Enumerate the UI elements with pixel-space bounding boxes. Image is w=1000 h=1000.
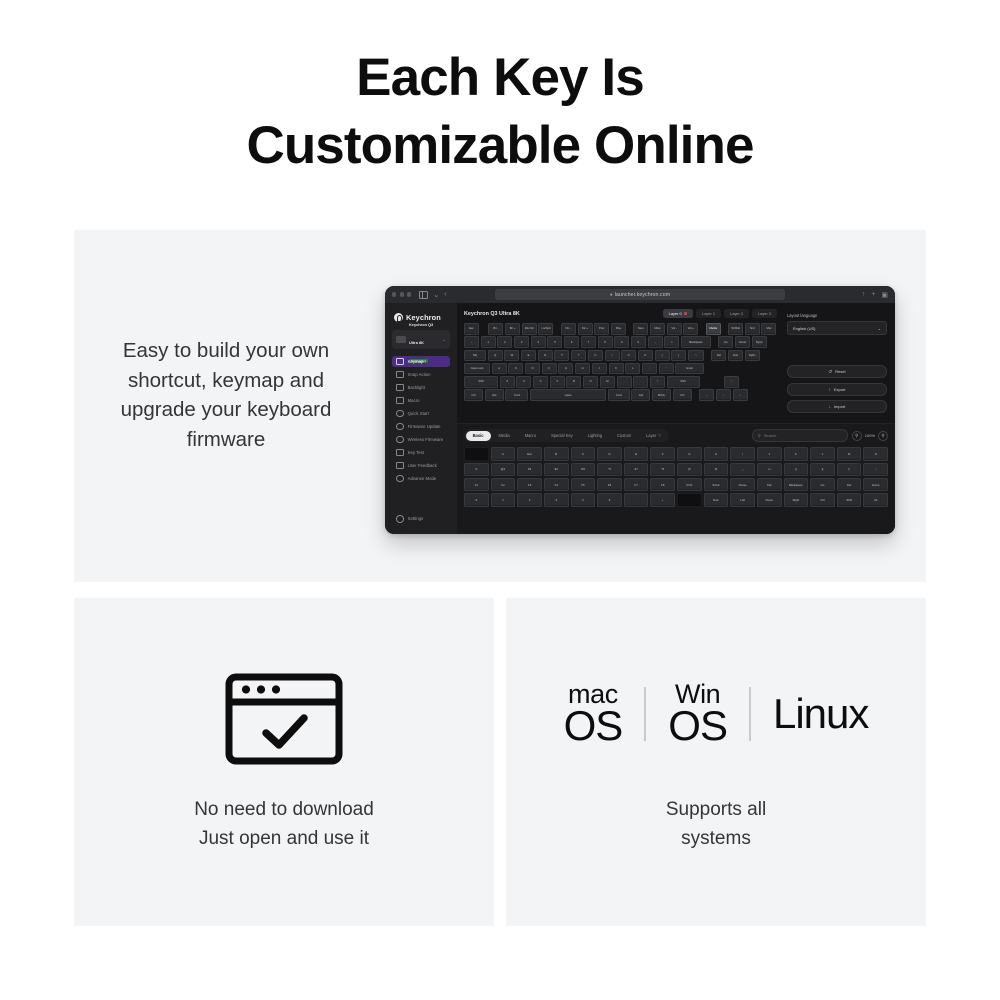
button-label: Export [834,387,846,392]
help-icon: ? [658,433,660,438]
keyboard-key[interactable]: 2 [497,336,512,348]
layer-tabs: Layer 0Layer 1Layer 2Layer 3 [663,309,777,318]
keycode-key[interactable]: K [784,447,809,460]
keyboard-key[interactable]: Y [571,350,586,362]
sidebar-item-firmware-update[interactable]: Firmware Update [392,421,450,432]
snap-icon [396,371,404,379]
chevron-down-icon[interactable]: ⌄ [443,337,446,342]
keycode-key[interactable]: Left [730,493,755,506]
keycode-key[interactable]: F1 [464,478,489,491]
sidebar-item-label: Backlight [408,385,425,390]
keyboard-key[interactable]: ~ [464,336,479,348]
keyboard-key[interactable]: Enter [675,363,704,375]
keycode-key[interactable]: H [704,447,729,460]
keyboard-key[interactable]: M [600,376,615,388]
options-panel: Layout language English (US) ⌄ ↺Reset↑Ex… [783,303,895,423]
keycode-key[interactable]: Del [837,478,862,491]
keyboard-key[interactable]: Prev [594,323,609,335]
keycode-key[interactable]: 0 [464,493,489,506]
keyboard-key[interactable]: F [542,363,557,375]
lock-icon: ● [610,292,613,297]
keycode-key[interactable]: A [491,447,516,460]
keycode-key[interactable]: }] [810,463,835,476]
sidebar-item-label: Keymap [408,359,424,364]
keyboard-key[interactable]: ] [671,350,686,362]
keyboard-key[interactable]: Dic + [578,323,593,335]
picker-tabs-group: BasicMediaMacroSpecial KeyLightingCustom… [464,429,669,442]
device-thumbnail-icon [396,336,406,343]
keyboard-key[interactable]: Bri - [488,323,503,335]
button-label: Import [834,404,845,409]
tab-layer[interactable]: Layer? [639,431,668,441]
keycode-key[interactable]: Alt [863,493,888,506]
keyboard-key[interactable]: Play [611,323,626,335]
pane-top: Keychron Q3 Ultra 8K Layer 0Layer 1Layer… [457,303,895,423]
keycode-key[interactable]: Shift [837,493,862,506]
tab-label: Media [499,433,510,438]
keycode-key[interactable]: F2 [491,478,516,491]
feature-card-main-copy: Easy to build your own shortcut, keymap … [96,336,356,454]
browser-chrome: ⌄ ‹ ● launcher.keychron.com ↑ + ▣ [385,286,895,303]
keycode-key[interactable]: ^6 [597,463,622,476]
keyboard-key[interactable]: O [621,350,636,362]
advance-icon [396,475,404,483]
keyboard-gap [722,323,726,335]
keyboard-key[interactable]: 6 [564,336,579,348]
divider [644,687,646,741]
keyboard-row: TabQWERTYUIOP[]\DelEndPgDn [464,350,777,362]
keyboard-key[interactable]: PgUp [752,336,767,348]
feedback-icon [396,462,404,470]
keycode-key[interactable]: G [677,447,702,460]
layer-tab-label: Layer 1 [702,311,715,316]
keyboard-gap [481,323,487,335]
keyboard-key[interactable]: Z [500,376,515,388]
sidebar-item-label: Wireless Firmware [408,437,444,442]
keycode-key[interactable]: Backspace [784,478,809,491]
keyboard-key[interactable]: . [633,376,648,388]
keycode-key[interactable]: !1 [464,463,489,476]
keyboard-key[interactable]: ← [699,389,714,401]
keycode-key[interactable]: + [650,493,675,506]
sidebar-item-quick-start[interactable]: Quick Start [392,408,450,419]
keycode-key[interactable]: Ctrl [810,493,835,506]
sidebar-item-macro[interactable]: Macro [392,395,450,406]
export-button[interactable]: ↑Export [787,383,887,396]
feature-card-bottom-left-caption: No need to downloadJust open and use it [74,796,494,853]
sidebar-item-label: Key Test [408,450,424,455]
page-title-line1: Each Key Is [356,48,644,107]
keyboard-key[interactable]: \ [688,350,704,362]
search-placeholder: Search [764,433,777,438]
test-icon [396,449,404,457]
wifi-icon [396,436,404,444]
keyboard-key[interactable]: Del [711,350,726,362]
keyboard-key[interactable]: P [638,350,653,362]
keycode-key[interactable]: 4 [571,493,596,506]
tab-label: Layer [646,433,656,438]
reset-icon: ↺ [828,369,832,375]
layout-language-select[interactable]: English (US) ⌄ [787,321,887,335]
keyboard-key[interactable]: Msc [761,323,776,335]
keyboard-key[interactable]: - [648,336,663,348]
keyboard-key[interactable]: Next [633,323,648,335]
os-logo-row: macOSWinOSLinux [506,676,926,752]
keycode-key[interactable]: Right [784,493,809,506]
window-traffic-lights[interactable] [392,292,411,296]
divider [749,687,751,741]
zoom-controls: ⚲ 100% ⚲ [852,431,888,441]
keycode-key[interactable]: Num [704,493,729,506]
sidebar-item-label: Snap Action [408,372,431,377]
keyboard-key[interactable]: / [650,376,665,388]
keyboard-key[interactable]: W [504,350,519,362]
keyboard-row: ~1234567890-=BackspaceInsHomePgUp [464,336,777,348]
os-logo-macos: macOS [564,682,623,745]
sidebar-item-settings[interactable]: Settings [392,513,450,524]
keycode-key[interactable]: F [650,447,675,460]
keyboard-key[interactable]: 8 [598,336,613,348]
keyboard-key[interactable]: Mute [650,323,665,335]
sidebar: Keychron Keychron Q3 Ultra 8K Connected … [385,303,457,534]
keycode-key[interactable] [464,447,489,460]
keycode-key[interactable]: )0 [704,463,729,476]
keycode-key[interactable]: _- [730,463,755,476]
keycode-key[interactable]: *8 [650,463,675,476]
keyboard-key[interactable]: SCRoll [728,323,743,335]
keycode-key[interactable]: F4 [544,478,569,491]
keyboard-key[interactable]: 9 [614,336,629,348]
keycode-key[interactable]: += [757,463,782,476]
gear-icon [396,515,404,523]
keycode-row: AEscBCDEFGHIJKLMN [464,447,888,460]
keyboard-row: EscBri -Bri +Mis CtrlLnchpdDic -Dic +Pre… [464,323,777,335]
keycode-key[interactable]: (9 [677,463,702,476]
caption-line: systems [506,825,926,854]
keycode-key[interactable]: C [571,447,596,460]
keyboard-key[interactable]: A [492,363,507,375]
sidebar-item-label: User Feedback [408,463,437,468]
keyboard-key[interactable]: Cmd [505,389,528,401]
chevron-down-icon[interactable]: ⌄ [433,291,439,299]
url-bar[interactable]: ● launcher.keychron.com [495,289,785,300]
keycode-key[interactable]: 1 [491,493,516,506]
keyboard-key[interactable]: Snd [745,323,760,335]
keycode-grid[interactable]: AEscBCDEFGHIJKLMN!1@2#3$4%5^6&7*8(9)0_-+… [464,447,888,506]
keycode-key[interactable]: I [730,447,755,460]
tab-label: Macro [525,433,536,438]
keyboard-key[interactable]: J [592,363,607,375]
keyboard-row: ShiftZXCVBNM,./Shift↑ [464,376,777,388]
keyboard-key[interactable]: Lnchpd [538,323,553,335]
tab-label: Custom [617,433,631,438]
keyboard-key[interactable]: ↑ [724,376,739,388]
keyboard-key[interactable]: Ctrl [464,389,483,401]
keyboard-key[interactable]: Vol + [683,323,698,335]
keyboard-row: Caps LockASDFGHJKL;'Enter [464,363,777,375]
sidebar-nav-bottom: Settings [392,513,450,526]
keycode-key[interactable]: E [624,447,649,460]
keyboard-key[interactable]: N [583,376,598,388]
keyboard-key[interactable]: ' [659,363,674,375]
keycode-key[interactable]: ScrLk [704,478,729,491]
keyboard-key[interactable]: V [550,376,565,388]
keycode-key[interactable] [677,493,702,506]
keycode-key[interactable]: M [837,447,862,460]
sidebar-item-backlight[interactable]: Backlight [392,382,450,393]
keyboard-key[interactable]: G [558,363,573,375]
keyboard-key[interactable]: Ctrl [673,389,692,401]
keyboard-key[interactable]: = [664,336,679,348]
keycode-key[interactable]: F7 [624,478,649,491]
url-text: launcher.keychron.com [615,292,670,298]
sidebar-item-user-feedback[interactable]: User Feedback [392,460,450,471]
keycode-key[interactable]: &7 [624,463,649,476]
tabs-icon[interactable]: ▣ [881,291,888,299]
keycode-key[interactable]: Down [757,493,782,506]
sidebar-item-key-test[interactable]: Key Test [392,447,450,458]
keyboard-key[interactable]: End [728,350,743,362]
keycode-key[interactable]: {[ [784,463,809,476]
promo-page: Each Key Is Customizable Online Easy to … [0,0,1000,1000]
keyboard-key[interactable]: Ins [718,336,733,348]
layer-tab-label: Layer 3 [758,311,771,316]
keyboard-key[interactable]: Backspace [681,336,711,348]
picker-tools: ⚲ Search ⚲ 100% ⚲ [752,429,888,442]
keyboard-gap [706,363,710,375]
keyboard-key[interactable]: 0 [631,336,646,348]
layout-language-value: English (US) [793,326,815,331]
keyboard-key[interactable]: U [588,350,603,362]
keyboard-panel: Keychron Q3 Ultra 8K Layer 0Layer 1Layer… [457,303,783,423]
keycode-key[interactable]: J [757,447,782,460]
sidebar-item-label: Quick Start [408,411,429,416]
keycode-key[interactable]: F3 [517,478,542,491]
keycode-key[interactable]: #3 [517,463,542,476]
sidebar-item-label: Macro [408,398,420,403]
sidebar-item-label: Settings [408,516,424,521]
keyboard-key[interactable]: Cmd [608,389,630,401]
keyboard-key[interactable]: R [538,350,553,362]
keyboard-key[interactable]: Home [735,336,750,348]
zoom-level: 100% [865,433,875,438]
keyboard-gap [700,323,704,335]
layer-indicator-dot [684,312,687,315]
keyboard-key[interactable]: Media [706,323,721,335]
keyboard-key[interactable]: Tab [464,350,486,362]
keyboard-key[interactable]: D [525,363,540,375]
keyboard-key[interactable]: Q [488,350,503,362]
keyboard-key[interactable]: C [533,376,548,388]
back-chevron-icon[interactable]: ‹ [444,291,446,298]
keycode-key[interactable]: @2 [491,463,516,476]
bulb-icon [396,384,404,392]
keyboard-key[interactable]: space [530,389,606,401]
keyboard-title: Keychron Q3 Ultra 8K [464,311,520,317]
options-buttons: ↺Reset↑Export↓Import [787,365,887,413]
caption-line: Just open and use it [74,825,494,854]
keycode-key[interactable]: Ins [810,478,835,491]
keyboard-key[interactable]: Vol - [667,323,682,335]
device-name: Keychron Q3 Ultra 8K [409,322,433,345]
keycode-key[interactable]: Tab [757,478,782,491]
os-logo-linux: Linux [773,695,868,734]
keyboard-key[interactable]: ↓ [716,389,731,401]
page-title: Each Key Is Customizable Online [0,44,1000,180]
keyboard-key[interactable]: T [554,350,569,362]
app-screenshot: ⌄ ‹ ● launcher.keychron.com ↑ + ▣ Keychr… [385,286,895,534]
keyboard-key[interactable]: → [733,389,748,401]
keyboard-key[interactable]: X [516,376,531,388]
caption-line: No need to download [74,796,494,825]
keyboard-key[interactable]: H [575,363,590,375]
keycode-key[interactable]: 2 [517,493,542,506]
keycode-key[interactable]: D [597,447,622,460]
keyboard-gap [694,389,698,401]
layer-tab-layer-3[interactable]: Layer 3 [752,309,777,318]
keyboard-layout[interactable]: EscBri -Bri +Mis CtrlLnchpdDic -Dic +Pre… [464,323,777,401]
sidebar-item-advance-mode[interactable]: Advance Mode [392,473,450,484]
sidebar-item-label: Advance Mode [408,476,437,481]
keyboard-header: Keychron Q3 Ultra 8K Layer 0Layer 1Layer… [464,308,777,319]
keyboard-key[interactable]: 3 [514,336,529,348]
keycode-key[interactable]: Pause [730,478,755,491]
import-button[interactable]: ↓Import [787,400,887,413]
key-picker: BasicMediaMacroSpecial KeyLightingCustom… [457,423,895,534]
zoom-out-icon[interactable]: ⚲ [852,431,862,441]
keyboard-key[interactable]: S [508,363,523,375]
keycode-key[interactable]: :; [863,463,888,476]
keyboard-key[interactable]: Opt [485,389,504,401]
keyboard-key[interactable]: K [609,363,624,375]
sidebar-icon[interactable] [419,291,428,299]
keyboard-gap [701,376,705,388]
sidebar-item-snap-action[interactable]: Snap Action [392,369,450,380]
keyboard-key[interactable]: L [625,363,640,375]
keyboard-key[interactable]: Esc [464,323,479,335]
os-logo-winos: WinOS [668,682,727,745]
keycode-key[interactable]: %5 [571,463,596,476]
keycode-key[interactable]: Esc [517,447,542,460]
tab-lighting[interactable]: Lighting [581,431,609,441]
tab-macro[interactable]: Macro [518,431,543,441]
keyboard-key[interactable]: 1 [481,336,496,348]
keycode-key[interactable]: F6 [597,478,622,491]
keyboard-key[interactable]: Bri + [505,323,520,335]
sidebar-item-wireless-firmware[interactable]: Wireless Firmware [392,434,450,445]
keycode-key[interactable]: Print [677,478,702,491]
keyboard-key[interactable]: PgDn [745,350,760,362]
layer-tab-layer-0[interactable]: Layer 0 [663,309,693,318]
sidebar-nav: KeymapSnap ActionBacklightMacroQuick Sta… [385,356,457,484]
keyboard-key[interactable]: 5 [547,336,562,348]
keycode-row: !1@2#3$4%5^6&7*8(9)0_-+={[}]|\:; [464,463,888,476]
keyboard-key[interactable]: 7 [581,336,596,348]
keycode-row: 012345.+NumLeftDownRightCtrlShiftAlt [464,493,888,506]
keycode-key[interactable]: |\ [837,463,862,476]
import-icon: ↓ [829,404,831,409]
device-selector[interactable]: Keychron Q3 Ultra 8K Connected ⌄ [392,330,450,349]
keyboard-key[interactable]: Shift [667,376,700,388]
keycode-key[interactable]: N [863,447,888,460]
keycode-key[interactable]: . [624,493,649,506]
keyboard-key[interactable]: Opt [631,389,650,401]
tab-custom[interactable]: Custom [610,431,638,441]
keyboard-key[interactable]: Shift [464,376,498,388]
keyboard-key[interactable]: 4 [531,336,546,348]
tab-special-key[interactable]: Special Key [544,431,580,441]
caption-line: Supports all [506,796,926,825]
os-logo-bottom: OS [668,707,727,746]
chip-icon [396,423,404,431]
tab-label: Lighting [588,433,602,438]
layer-tab-layer-1[interactable]: Layer 1 [696,309,721,318]
play-icon [396,410,404,418]
keyboard-key[interactable]: Mis Ctrl [522,323,537,335]
layout-language-label: Layout language [787,313,887,318]
keyboard-gap [706,350,710,362]
keyboard-icon [396,358,404,366]
keyboard-key[interactable]: [ [655,350,670,362]
sidebar-item-label: Firmware Update [408,424,441,429]
button-label: Reset [835,369,845,374]
keyboard-key[interactable]: I [605,350,620,362]
browser-actions[interactable]: ↑ + ▣ [862,291,888,299]
zoom-in-icon[interactable]: ⚲ [878,431,888,441]
share-icon[interactable]: ↑ [862,291,866,298]
feature-card-bottom-right-caption: Supports allsystems [506,796,926,853]
os-logo-bottom: OS [564,707,623,746]
keyboard-key[interactable]: MO(1) [652,389,671,401]
keyboard-gap [713,336,717,348]
keyboard-key[interactable]: E [521,350,536,362]
keyboard-gap [555,323,559,335]
keycode-row: F1F2F3F4F5F6F7F8PrintScrLkPauseTabBacksp… [464,478,888,491]
keycode-key[interactable]: 5 [597,493,622,506]
keyboard-key[interactable]: B [566,376,581,388]
keycode-key[interactable]: 3 [544,493,569,506]
tab-label: Special Key [551,433,573,438]
keyboard-gap [628,323,632,335]
layer-tab-label: Layer 0 [669,311,682,316]
search-input[interactable]: ⚲ Search [752,429,848,442]
browser-nav-controls[interactable]: ⌄ ‹ [419,291,446,299]
reset-button[interactable]: ↺Reset [787,365,887,378]
keycode-key[interactable]: Home [863,478,888,491]
keyboard-key[interactable]: Caps Lock [464,363,490,375]
new-tab-icon[interactable]: + [871,291,875,298]
keycode-key[interactable]: L [810,447,835,460]
keycode-key[interactable]: $4 [544,463,569,476]
browser-window-check-icon [224,672,344,766]
keyboard-key[interactable]: , [617,376,632,388]
tab-label: Basic [473,433,484,438]
keyboard-key[interactable]: Dic - [561,323,576,335]
picker-tabs: BasicMediaMacroSpecial KeyLightingCustom… [464,429,888,442]
tab-media[interactable]: Media [492,431,517,441]
search-icon: ⚲ [758,433,761,438]
tab-basic[interactable]: Basic [466,431,491,441]
keyboard-key[interactable]: ; [642,363,657,375]
layer-tab-layer-2[interactable]: Layer 2 [724,309,749,318]
keychron-logo-icon [394,313,403,322]
keycode-key[interactable]: F5 [571,478,596,491]
export-icon: ↑ [829,387,831,392]
macro-icon [396,397,404,405]
app-body: Keychron Keychron Q3 Ultra 8K Connected … [385,303,895,534]
keycode-key[interactable]: F8 [650,478,675,491]
keycode-key[interactable]: B [544,447,569,460]
